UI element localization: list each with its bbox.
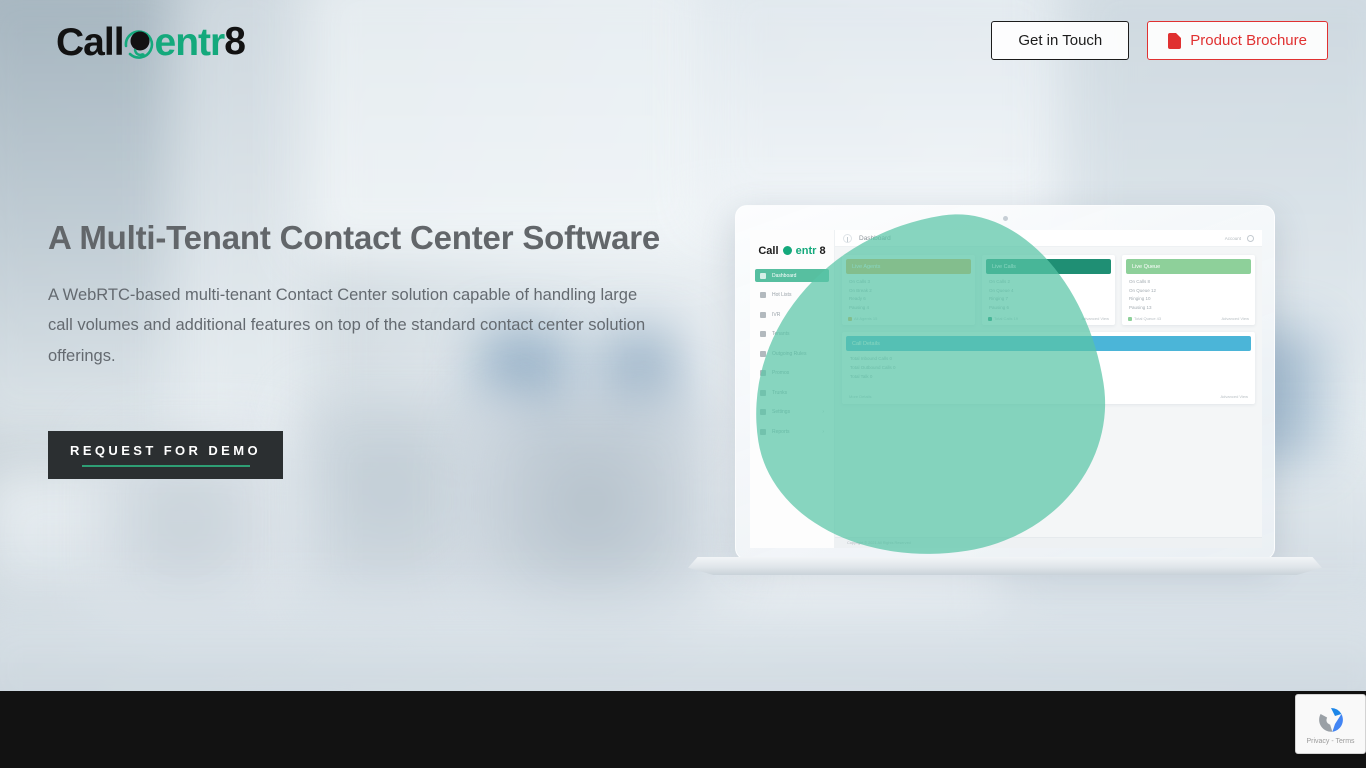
logo-text-entr: entr (155, 23, 225, 62)
card-footer-left[interactable]: Total Queue 43 (1128, 316, 1161, 321)
user-avatar-icon (1247, 235, 1254, 242)
sidebar-item-label: Hot Lists (772, 292, 791, 298)
card-live-agents: Live Agents On Calls 3 On Break 2 Ready … (842, 255, 975, 325)
background-floor-blur (0, 600, 1366, 691)
card-stat-row: Ready 6 (849, 296, 968, 301)
card-footer-label: Total Queue 43 (1134, 316, 1161, 321)
headset-circle-icon (783, 246, 792, 255)
sidebar-item-label: Reports (772, 429, 790, 435)
card-footer: Total Calls 19 Advanced View (982, 313, 1115, 325)
panel-header: Call Details (846, 336, 1251, 351)
sidebar-item-label: Trunks (772, 390, 787, 396)
laptop-mockup: Call entr 8 Dashboard Hot Lists IVR (688, 205, 1322, 585)
route-icon (760, 351, 766, 357)
hamburger-icon[interactable] (843, 234, 852, 243)
dashboard-logo: Call entr 8 (750, 245, 834, 257)
card-stat-row: Pausing 4 (849, 305, 968, 310)
card-stat-row: On Calls 2 (989, 279, 1108, 284)
card-live-calls: Live Calls On Calls 2 On Queue 4 Ringing… (982, 255, 1115, 325)
sidebar-item-dashboard[interactable]: Dashboard (755, 269, 829, 282)
sidebar-item-hot-lists[interactable]: Hot Lists (755, 289, 829, 302)
page-title: A Multi-Tenant Contact Center Software (48, 218, 668, 258)
phone-icon (760, 312, 766, 318)
card-footer-left[interactable]: All Agents 15 (848, 316, 877, 321)
card-stat-row: Ringing 7 (989, 296, 1108, 301)
square-icon (848, 317, 852, 321)
card-stat-row: Pausing 13 (1129, 305, 1248, 310)
dashboard-screenshot: Call entr 8 Dashboard Hot Lists IVR (750, 230, 1262, 548)
dashboard-logo-call: Call (758, 245, 778, 257)
card-header: Live Queue (1126, 259, 1251, 274)
get-in-touch-button[interactable]: Get in Touch (991, 21, 1129, 60)
dashboard-topbar: Dashboard Account (835, 230, 1262, 247)
sidebar-item-trunks[interactable]: Trunks (755, 386, 829, 399)
panel-footer-right[interactable]: Advanced View (1221, 394, 1249, 399)
hero-description: A WebRTC-based multi-tenant Contact Cent… (48, 280, 648, 371)
dashboard-logo-eight: 8 (820, 245, 826, 257)
bar-chart-icon (760, 370, 766, 376)
sidebar-item-ivr[interactable]: IVR (755, 308, 829, 321)
dashboard-main: Dashboard Account Live Agents On Calls 3… (835, 230, 1262, 548)
card-footer: Total Queue 43 Advanced View (1122, 313, 1255, 325)
card-body: On Calls 8 On Queue 12 Ringing 10 Pausin… (1122, 274, 1255, 313)
card-body: On Calls 3 On Break 2 Ready 6 Pausing 4 (842, 274, 975, 313)
sidebar-item-promos[interactable]: Promos (755, 367, 829, 380)
recaptcha-badge[interactable]: Privacy - Terms (1295, 694, 1366, 754)
sidebar-item-tenants[interactable]: Tenants (755, 328, 829, 341)
sidebar-item-label: Settings (772, 409, 790, 415)
panel-stat-row: Total Talk 0 (850, 374, 1247, 379)
square-icon (1128, 317, 1132, 321)
card-footer-right[interactable]: Advanced View (1082, 316, 1110, 321)
header-actions: Get in Touch Product Brochure (991, 21, 1328, 60)
site-footer (0, 691, 1366, 768)
dashboard-sidebar: Call entr 8 Dashboard Hot Lists IVR (750, 230, 835, 548)
logo-text-call: Call (56, 23, 124, 62)
card-footer-label: Total Calls 19 (994, 316, 1018, 321)
card-header: Live Agents (846, 259, 971, 274)
request-demo-underline (82, 465, 250, 467)
grid-icon (760, 273, 766, 279)
dashboard-user-menu[interactable]: Account (1225, 235, 1254, 242)
card-stat-row: Pausing 6 (989, 305, 1108, 310)
sidebar-item-outgoing-rules[interactable]: Outgoing Rules (755, 347, 829, 360)
sidebar-item-label: Promos (772, 370, 789, 376)
briefcase-icon (760, 331, 766, 337)
hero-content: A Multi-Tenant Contact Center Software A… (48, 218, 668, 479)
panel-stat-row: Total Outbound Calls 0 (850, 365, 1247, 370)
site-header: Call entr 8 Get in Touch Product Brochur… (0, 0, 1366, 80)
product-brochure-label: Product Brochure (1190, 32, 1307, 49)
card-stat-row: Ringing 10 (1129, 296, 1248, 301)
sidebar-item-reports[interactable]: Reports › (755, 425, 829, 438)
product-brochure-button[interactable]: Product Brochure (1147, 21, 1328, 60)
sidebar-item-label: Dashboard (772, 273, 796, 279)
card-live-queue: Live Queue On Calls 8 On Queue 12 Ringin… (1122, 255, 1255, 325)
card-stat-row: On Queue 12 (1129, 288, 1248, 293)
request-demo-label: REQUEST FOR DEMO (70, 443, 261, 458)
card-header: Live Calls (986, 259, 1111, 274)
account-select: Account (1225, 236, 1241, 241)
panel-footer: More Details Advanced View (842, 391, 1255, 404)
list-icon (760, 292, 766, 298)
panel-body: Total Inbound Calls 0 Total Outbound Cal… (842, 351, 1255, 391)
sidebar-item-settings[interactable]: Settings › (755, 406, 829, 419)
laptop-lid: Call entr 8 Dashboard Hot Lists IVR (735, 205, 1275, 560)
pdf-file-icon (1168, 33, 1181, 49)
headset-circle-icon (121, 23, 157, 61)
logo-text-eight: 8 (224, 20, 246, 64)
dashboard-logo-entr: entr (796, 245, 817, 257)
recaptcha-logo-icon (1315, 704, 1347, 736)
recaptcha-terms-label[interactable]: Privacy - Terms (1306, 738, 1354, 745)
dashboard-copyright: Copyright © 2021 All Rights Reserved (835, 537, 1262, 548)
card-footer-left[interactable]: Total Calls 19 (988, 316, 1018, 321)
server-icon (760, 390, 766, 396)
card-stat-row: On Break 2 (849, 288, 968, 293)
brand-logo[interactable]: Call entr 8 (56, 20, 246, 64)
gear-icon (760, 409, 766, 415)
card-stat-row: On Calls 3 (849, 279, 968, 284)
webcam-icon (1003, 216, 1008, 221)
call-details-panel: Call Details Total Inbound Calls 0 Total… (842, 332, 1255, 404)
panel-stat-row: Total Inbound Calls 0 (850, 356, 1247, 361)
request-demo-button[interactable]: REQUEST FOR DEMO (48, 431, 283, 479)
chevron-right-icon: › (822, 409, 824, 415)
square-icon (988, 317, 992, 321)
sidebar-item-label: IVR (772, 312, 780, 318)
laptop-base (688, 557, 1322, 575)
stat-cards: Live Agents On Calls 3 On Break 2 Ready … (835, 247, 1262, 325)
card-footer-right[interactable]: Advanced View (1222, 316, 1250, 321)
panel-footer-left[interactable]: More Details (849, 394, 871, 399)
person-icon (760, 429, 766, 435)
card-stat-row: On Calls 8 (1129, 279, 1248, 284)
sidebar-item-label: Outgoing Rules (772, 351, 806, 357)
card-stat-row: On Queue 4 (989, 288, 1108, 293)
card-footer-label: All Agents 15 (854, 316, 877, 321)
sidebar-item-label: Tenants (772, 331, 790, 337)
chevron-right-icon: › (822, 429, 824, 435)
dashboard-page-title: Dashboard (859, 235, 891, 242)
card-body: On Calls 2 On Queue 4 Ringing 7 Pausing … (982, 274, 1115, 313)
card-footer: All Agents 15 (842, 313, 975, 325)
